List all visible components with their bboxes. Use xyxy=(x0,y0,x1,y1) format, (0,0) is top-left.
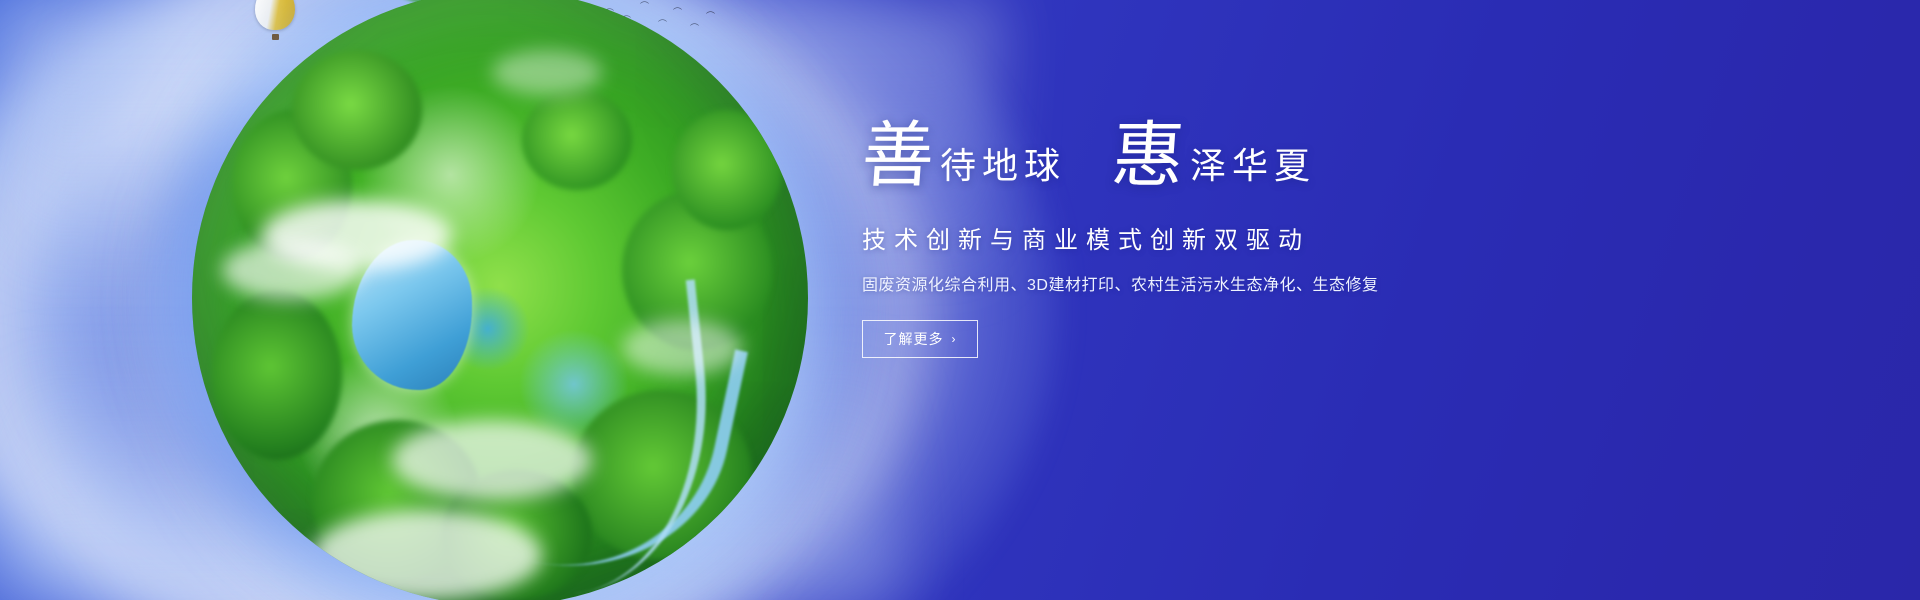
earth-sphere xyxy=(192,0,808,600)
headline-text-1: 待地球 xyxy=(940,148,1066,184)
page-description: 固废资源化综合利用、3D建材打印、农村生活污水生态净化、生态修复 xyxy=(862,274,1762,298)
learn-more-label: 了解更多 xyxy=(884,329,944,349)
headline-char-1: 善 xyxy=(859,120,936,192)
bird-icon: ︵ xyxy=(690,18,699,27)
bird-icon: ︵ xyxy=(658,14,667,23)
hot-air-balloon-icon xyxy=(255,0,295,32)
hero-banner: ︵ ︵ ︵ ︵ ︵ ︵ ︵ 善待地球 xyxy=(0,0,1920,600)
bird-icon: ︵ xyxy=(673,2,682,11)
headline-text-2: 泽华夏 xyxy=(1190,148,1316,184)
chevron-right-icon: › xyxy=(952,333,957,345)
page-title: 善待地球惠泽华夏 xyxy=(862,120,1762,212)
headline-char-2: 惠 xyxy=(1110,120,1187,192)
hero-content: 善待地球惠泽华夏 技术创新与商业模式创新双驱动 固废资源化综合利用、3D建材打印… xyxy=(862,120,1762,358)
page-subtitle: 技术创新与商业模式创新双驱动 xyxy=(862,226,1762,256)
learn-more-button[interactable]: 了解更多 › xyxy=(862,320,978,358)
tiny-planet-earth-image: ︵ ︵ ︵ ︵ ︵ ︵ ︵ xyxy=(150,0,850,600)
bird-icon: ︵ xyxy=(706,6,715,15)
bird-icon: ︵ xyxy=(640,0,649,5)
